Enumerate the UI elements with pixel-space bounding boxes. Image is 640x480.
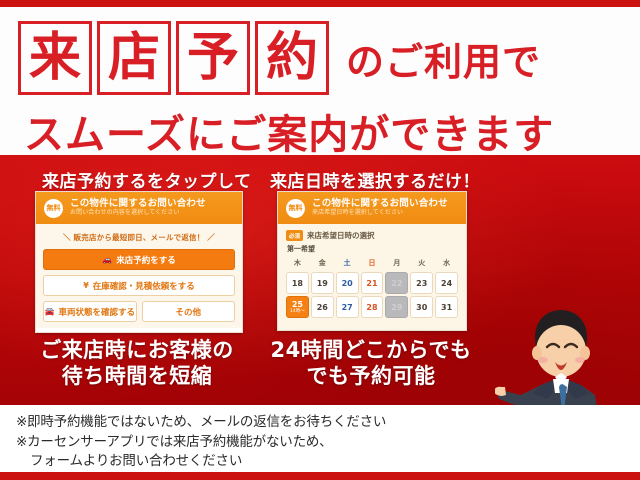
calendar-day-number: 29 [391, 303, 402, 312]
mockup-header-subtitle: お問い合わせの内容を選択してください [70, 210, 206, 217]
calendar-dow-header: 木 [286, 257, 309, 270]
preference-label: 第一希望 [287, 244, 458, 254]
calendar-dow-header: 金 [311, 257, 334, 270]
disclaimer-line-2: ※カーセンサーアプリでは来店予約機能がないため、 [16, 433, 461, 453]
kanji-box-2: 店 [97, 21, 171, 95]
calendar-dow-header: 火 [410, 257, 433, 270]
footer-section: ※即時予約機能ではないため、メールの返信をお待ちください ※カーセンサーアプリで… [0, 405, 640, 472]
calendar-day-cell[interactable]: 24 [435, 272, 458, 294]
mockup-body: ＼ 販売店から最短即日、メールで返信！ ／ 🚗 来店予約をする ¥ 在庫確認・見… [36, 224, 242, 328]
disclaimer-note: ※即時予約機能ではないため、メールの返信をお待ちください ※カーセンサーアプリで… [16, 413, 461, 472]
stock-quote-label: 在庫確認・見積依頼をする [93, 280, 195, 292]
headline-row-1: 来 店 予 約 のご利用で [18, 19, 628, 97]
red-feature-section: 来店予約するをタップして 来店日時を選択するだけ！ 無料 この物件に関するお問い… [0, 155, 640, 405]
right-caption: 24時間どこからでも でも予約可能 [266, 338, 476, 389]
calendar-day-cell[interactable]: 20 [336, 272, 359, 294]
calendar-day-number: 21 [366, 279, 377, 288]
calendar-day-number: 24 [441, 279, 452, 288]
calendar-day-number: 20 [342, 279, 353, 288]
vehicle-icon: 🚘 [45, 307, 55, 316]
calendar-mockup-header-text: この物件に関するお問い合わせ 来店希望日時を選択してください [312, 199, 448, 217]
right-caption-line-2: でも予約可能 [266, 364, 476, 390]
calendar-day-number: 26 [317, 303, 328, 312]
disclaimer-line-1: ※即時予約機能ではないため、メールの返信をお待ちください [16, 413, 461, 433]
top-accent-bar [0, 0, 640, 7]
calendar-day-time: 14時～ [290, 310, 305, 315]
calendar-mockup-header: 無料 この物件に関するお問い合わせ 来店希望日時を選択してください [278, 192, 466, 224]
calendar-day-cell[interactable]: 26 [311, 296, 334, 318]
calendar-day-cell: 22 [385, 272, 408, 294]
yen-icon: ¥ [83, 281, 89, 290]
calendar-day-cell[interactable]: 18 [286, 272, 309, 294]
secondary-button-row: 🚘 車両状態を確認する その他 [43, 301, 235, 322]
vehicle-condition-label: 車両状態を確認する [58, 306, 135, 318]
inquiry-form-mockup: 無料 この物件に関するお問い合わせ お問い合わせの内容を選択してください ＼ 販… [35, 191, 243, 333]
calendar-day-cell[interactable]: 31 [435, 296, 458, 318]
headline-row-2: スムーズにご案内ができます [24, 102, 624, 160]
required-badge: 必須 [286, 230, 303, 241]
calendar-day-cell[interactable]: 23 [410, 272, 433, 294]
left-panel-title: 来店予約するをタップして [42, 167, 252, 192]
calendar-day-number: 28 [366, 303, 377, 312]
calendar-dow-header: 水 [435, 257, 458, 270]
calendar-day-cell[interactable]: 30 [410, 296, 433, 318]
mockup-header: 無料 この物件に関するお問い合わせ お問い合わせの内容を選択してください [36, 192, 242, 224]
calendar-day-number: 25 [292, 300, 303, 309]
calendar-wrap: 必須 来店希望日時の選択 第一希望 木金土日月火水181920212223242… [278, 224, 466, 322]
reserve-visit-button[interactable]: 🚗 来店予約をする [43, 249, 235, 270]
kanji-box-3: 予 [176, 21, 250, 95]
free-badge: 無料 [286, 199, 305, 218]
calendar-dow-header: 土 [336, 257, 359, 270]
calendar-day-cell: 29 [385, 296, 408, 318]
calendar-dow-header: 月 [385, 257, 408, 270]
calendar-day-cell[interactable]: 28 [361, 296, 384, 318]
mockup-header-text: この物件に関するお問い合わせ お問い合わせの内容を選択してください [70, 199, 206, 217]
calendar-day-number: 22 [391, 279, 402, 288]
calendar-mockup-header-subtitle: 来店希望日時を選択してください [312, 210, 448, 217]
kanji-box-1: 来 [18, 21, 92, 95]
mockup-lead-text: ＼ 販売店から最短即日、メールで返信！ ／ [43, 232, 235, 243]
calendar-day-selected[interactable]: 2514時～ [286, 296, 309, 318]
calendar-day-number: 19 [317, 279, 328, 288]
left-caption: ご来店時にお客様の 待ち時間を短縮 [12, 338, 262, 389]
reserve-visit-label: 来店予約をする [116, 254, 176, 266]
other-button[interactable]: その他 [142, 301, 236, 322]
right-panel-title: 来店日時を選択するだけ！ [270, 167, 480, 192]
bottom-accent-bar [0, 472, 640, 480]
car-icon: 🚗 [102, 255, 112, 264]
disclaimer-line-3: フォームよりお問い合わせください [16, 452, 461, 472]
calendar-grid[interactable]: 木金土日月火水181920212223242514時～262728293031 [286, 257, 458, 318]
calendar-day-cell[interactable]: 21 [361, 272, 384, 294]
right-caption-line-1: 24時間どこからでも [266, 338, 476, 364]
stock-quote-button[interactable]: ¥ 在庫確認・見積依頼をする [43, 275, 235, 296]
calendar-label-row: 必須 来店希望日時の選択 [286, 230, 458, 241]
date-picker-mockup: 無料 この物件に関するお問い合わせ 来店希望日時を選択してください 必須 来店希… [277, 191, 467, 331]
free-badge: 無料 [44, 199, 63, 218]
calendar-dow-header: 日 [361, 257, 384, 270]
kanji-box-4: 約 [255, 21, 329, 95]
other-label: その他 [175, 306, 201, 318]
headline-tail: のご利用で [346, 31, 541, 86]
calendar-day-number: 27 [342, 303, 353, 312]
calendar-day-number: 23 [416, 279, 427, 288]
calendar-day-number: 31 [441, 303, 452, 312]
vehicle-condition-button[interactable]: 🚘 車両状態を確認する [43, 301, 137, 322]
calendar-section-label: 来店希望日時の選択 [307, 230, 375, 241]
calendar-day-number: 30 [416, 303, 427, 312]
calendar-day-cell[interactable]: 19 [311, 272, 334, 294]
left-caption-line-1: ご来店時にお客様の [12, 338, 262, 364]
left-caption-line-2: 待ち時間を短縮 [12, 364, 262, 390]
promo-banner: 来 店 予 約 のご利用で スムーズにご案内ができます 来店予約するをタップして… [0, 0, 640, 480]
calendar-day-cell[interactable]: 27 [336, 296, 359, 318]
headline-block: 来 店 予 約 のご利用で スムーズにご案内ができます [0, 7, 640, 155]
calendar-day-number: 18 [292, 279, 303, 288]
